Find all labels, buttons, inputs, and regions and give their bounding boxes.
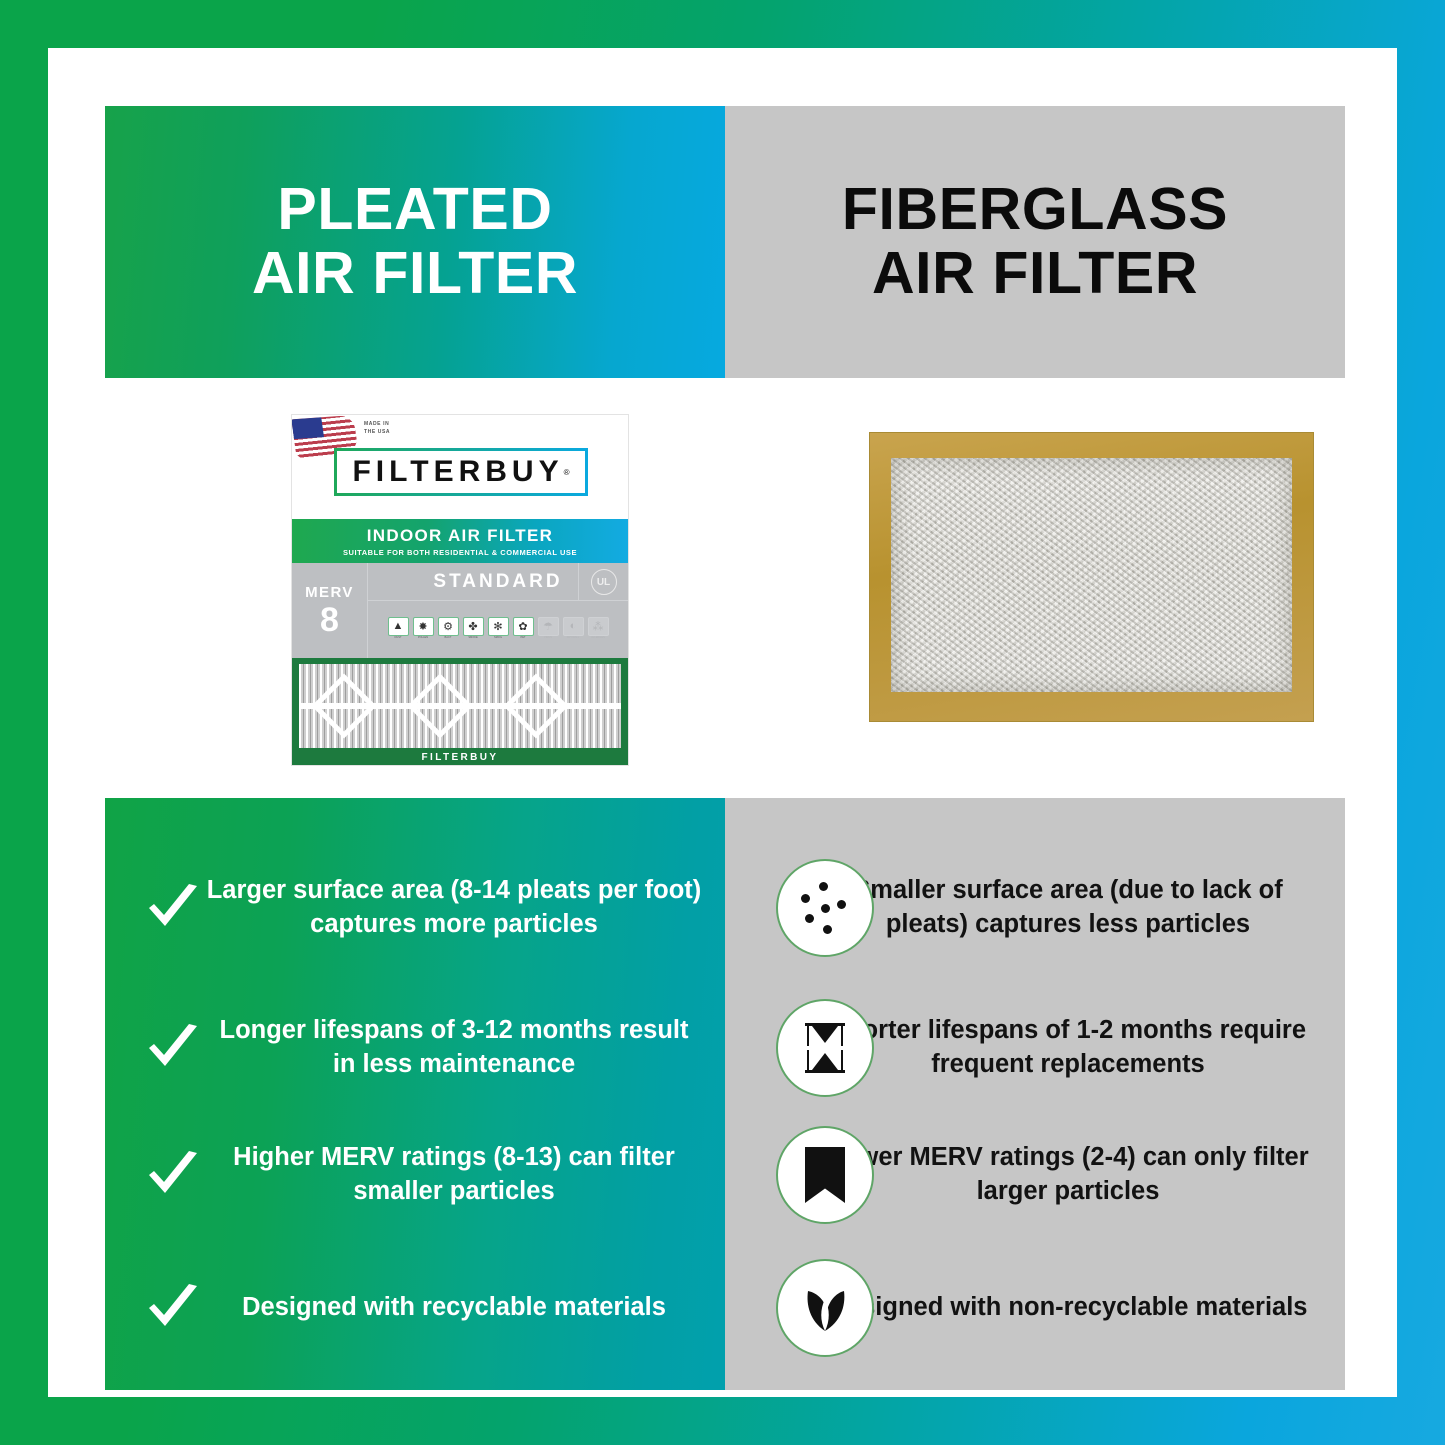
smog-icon: ✻ bbox=[488, 617, 509, 636]
check-icon bbox=[141, 1149, 205, 1201]
row-left-text: Larger surface area (8-14 pleats per foo… bbox=[205, 874, 725, 942]
capability-icon-bacteria: ⚙BACT bbox=[437, 617, 459, 643]
row-left-cell: Larger surface area (8-14 pleats per foo… bbox=[105, 874, 725, 942]
header-pleated-line2: AIR FILTER bbox=[252, 242, 578, 306]
comparison-panel: Larger surface area (8-14 pleats per foo… bbox=[105, 798, 1345, 1390]
comparison-row: Higher MERV ratings (8-13) can filter sm… bbox=[105, 1120, 1345, 1230]
capability-icon-allergen: ⁂ALLERGEN bbox=[587, 617, 609, 643]
box-top-section: MADE INTHE USA FILTERBUY® bbox=[292, 415, 628, 519]
check-icon bbox=[141, 1022, 205, 1074]
comparison-row: Designed with recyclable materials Desig… bbox=[105, 1253, 1345, 1363]
drywall-icon: ◐ bbox=[563, 617, 584, 636]
merv-label: MERV bbox=[305, 584, 354, 601]
outer-gradient-frame: PLEATED AIR FILTER FIBERGLASS AIR FILTER… bbox=[0, 0, 1445, 1445]
capability-icon-pollen: ✸POLLEN bbox=[412, 617, 434, 643]
comparison-rows: Larger surface area (8-14 pleats per foo… bbox=[105, 798, 1345, 1390]
capability-icon-strip: ▲DUST ✸POLLEN ⚙BACT ✤SMOKE ✻SMOG ✿PET ☂V… bbox=[368, 601, 628, 658]
capability-icon-pet-dander: ✿PET bbox=[512, 617, 534, 643]
bookmark-glyph bbox=[805, 1147, 845, 1203]
smoke-icon: ✤ bbox=[463, 617, 484, 636]
header-pleated-line1: PLEATED bbox=[277, 178, 552, 242]
bookmark-icon bbox=[776, 1126, 874, 1224]
hourglass-icon bbox=[776, 999, 874, 1097]
hourglass-glyph bbox=[805, 1023, 845, 1073]
leaf-icon bbox=[776, 1259, 874, 1357]
virus-icon: ☂ bbox=[538, 617, 559, 636]
row-right-text: Designed with non-recyclable materials bbox=[829, 1291, 1308, 1325]
row-left-cell: Longer lifespans of 3-12 months result i… bbox=[105, 1014, 725, 1082]
product-images-row: MADE INTHE USA FILTERBUY® INDOOR AIR FIL… bbox=[105, 378, 1345, 798]
box-footer-brand: FILTERBUY bbox=[292, 752, 628, 763]
capability-icon-smoke: ✤SMOKE bbox=[462, 617, 484, 643]
pleated-filter-box-image: MADE INTHE USA FILTERBUY® INDOOR AIR FIL… bbox=[291, 414, 629, 766]
row-left-cell: Higher MERV ratings (8-13) can filter sm… bbox=[105, 1141, 725, 1209]
header-band: PLEATED AIR FILTER FIBERGLASS AIR FILTER bbox=[105, 106, 1345, 378]
content-card: PLEATED AIR FILTER FIBERGLASS AIR FILTER… bbox=[48, 48, 1397, 1397]
merv-rating-cell: MERV 8 bbox=[292, 563, 368, 658]
row-left-text: Higher MERV ratings (8-13) can filter sm… bbox=[205, 1141, 725, 1209]
dust-icon: ▲ bbox=[388, 617, 409, 636]
check-icon bbox=[141, 1282, 205, 1334]
comparison-row: Longer lifespans of 3-12 months result i… bbox=[105, 988, 1345, 1108]
leaf-glyph bbox=[798, 1281, 852, 1335]
box-color-band: INDOOR AIR FILTER SUITABLE FOR BOTH RESI… bbox=[292, 519, 628, 563]
row-left-text: Designed with recyclable materials bbox=[205, 1291, 725, 1325]
box-filter-window: FILTERBUY bbox=[292, 658, 628, 766]
paw-icon: ✿ bbox=[513, 617, 534, 636]
registered-mark: ® bbox=[564, 468, 570, 477]
box-grade-column: STANDARD UL ▲DUST ✸POLLEN ⚙BACT ✤SMOKE ✻… bbox=[368, 563, 628, 658]
pleated-media-graphic bbox=[299, 664, 621, 748]
comparison-row: Larger surface area (8-14 pleats per foo… bbox=[105, 838, 1345, 978]
particles-icon bbox=[776, 859, 874, 957]
box-spec-section: MERV 8 STANDARD UL ▲DUST ✸POLLEN bbox=[292, 563, 628, 658]
ul-certification-cell: UL bbox=[578, 563, 628, 601]
box-grade-label: STANDARD bbox=[433, 571, 562, 593]
row-left-text: Longer lifespans of 3-12 months result i… bbox=[205, 1014, 725, 1082]
brand-name: FILTERBUY bbox=[352, 455, 563, 489]
row-right-text: Lower MERV ratings (2-4) can only filter… bbox=[817, 1141, 1319, 1209]
brand-frame: FILTERBUY® bbox=[334, 448, 588, 496]
header-fiberglass-line1: FIBERGLASS bbox=[842, 178, 1228, 242]
made-in-usa-label: MADE INTHE USA bbox=[364, 421, 390, 436]
row-right-text: Shorter lifespans of 1-2 months require … bbox=[817, 1014, 1319, 1082]
header-fiberglass-line2: AIR FILTER bbox=[872, 242, 1198, 306]
check-icon bbox=[141, 882, 205, 934]
row-right-text: Smaller surface area (due to lack of ple… bbox=[817, 874, 1319, 942]
allergen-icon: ⁂ bbox=[588, 617, 609, 636]
bacteria-icon: ⚙ bbox=[438, 617, 459, 636]
ul-seal-icon: UL bbox=[591, 569, 617, 595]
particle-dots bbox=[797, 880, 853, 936]
box-grade-row: STANDARD UL bbox=[368, 563, 628, 601]
capability-icon-drywall: ◐DRYWALL bbox=[562, 617, 584, 643]
capability-icon-virus: ☂VIRUS bbox=[537, 617, 559, 643]
row-left-cell: Designed with recyclable materials bbox=[105, 1282, 725, 1334]
fiberglass-media-texture bbox=[891, 458, 1292, 692]
capability-icon-dust: ▲DUST bbox=[387, 617, 409, 643]
header-fiberglass: FIBERGLASS AIR FILTER bbox=[725, 106, 1345, 378]
merv-value: 8 bbox=[320, 603, 339, 637]
fiberglass-filter-image bbox=[869, 432, 1314, 722]
capability-icon-smog: ✻SMOG bbox=[487, 617, 509, 643]
pollen-icon: ✸ bbox=[413, 617, 434, 636]
box-band-subtitle: SUITABLE FOR BOTH RESIDENTIAL & COMMERCI… bbox=[343, 548, 577, 557]
box-band-title: INDOOR AIR FILTER bbox=[367, 526, 553, 546]
header-pleated: PLEATED AIR FILTER bbox=[105, 106, 725, 378]
